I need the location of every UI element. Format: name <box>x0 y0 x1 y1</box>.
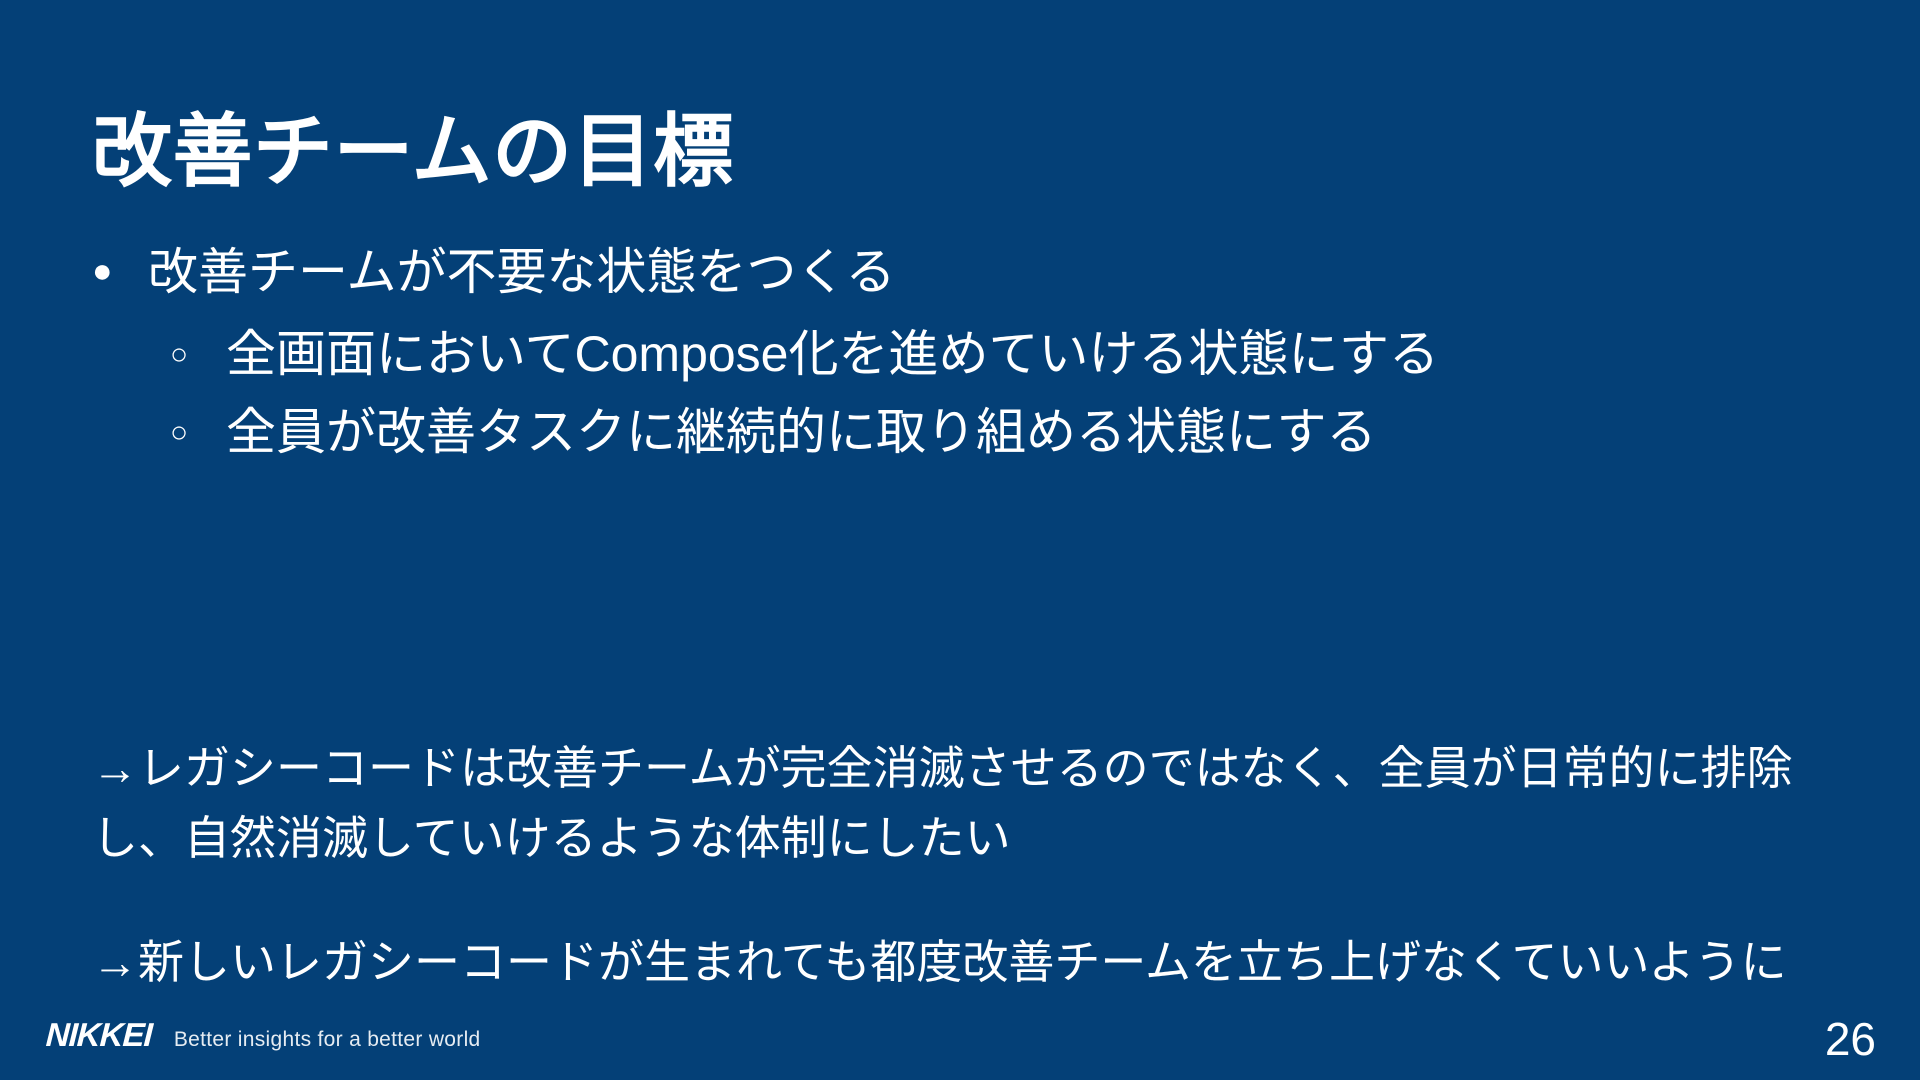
list-item: ○ 全員が改善タスクに継続的に取り組める状態にする <box>92 398 1852 466</box>
list-item-label: 全画面においてCompose化を進めていける状態にする <box>226 320 1852 388</box>
footer-tagline: Better insights for a better world <box>174 1028 481 1052</box>
footer: NIKKEI Better insights for a better worl… <box>46 1016 481 1054</box>
slide: 改善チームの目標 ● 改善チームが不要な状態をつくる ○ 全画面においてComp… <box>0 0 1920 1080</box>
page-title: 改善チームの目標 <box>92 102 1792 202</box>
hollow-circle-bullet-icon: ○ <box>170 398 226 448</box>
nikkei-logo: NIKKEI <box>45 1016 153 1054</box>
bullet-list: ● 改善チームが不要な状態をつくる ○ 全画面においてCompose化を進めてい… <box>92 238 1852 476</box>
list-item-label: 改善チームが不要な状態をつくる <box>148 238 1852 306</box>
page-number: 26 <box>1825 1016 1876 1062</box>
conclusion-block: →レガシーコードは改善チームが完全消滅させるのではなく、全員が日常的に排除し、自… <box>92 688 1862 1044</box>
conclusion-paragraph-2: →新しいレガシーコードが生まれても都度改善チームを立ち上げなくていいように <box>92 928 1862 998</box>
filled-circle-bullet-icon: ● <box>92 238 148 288</box>
list-item-label: 全員が改善タスクに継続的に取り組める状態にする <box>226 398 1852 466</box>
list-item: ○ 全画面においてCompose化を進めていける状態にする <box>92 320 1852 388</box>
hollow-circle-bullet-icon: ○ <box>170 320 226 370</box>
conclusion-paragraph-1: →レガシーコードは改善チームが完全消滅させるのではなく、全員が日常的に排除し、自… <box>92 734 1862 874</box>
list-item: ● 改善チームが不要な状態をつくる <box>92 238 1852 306</box>
